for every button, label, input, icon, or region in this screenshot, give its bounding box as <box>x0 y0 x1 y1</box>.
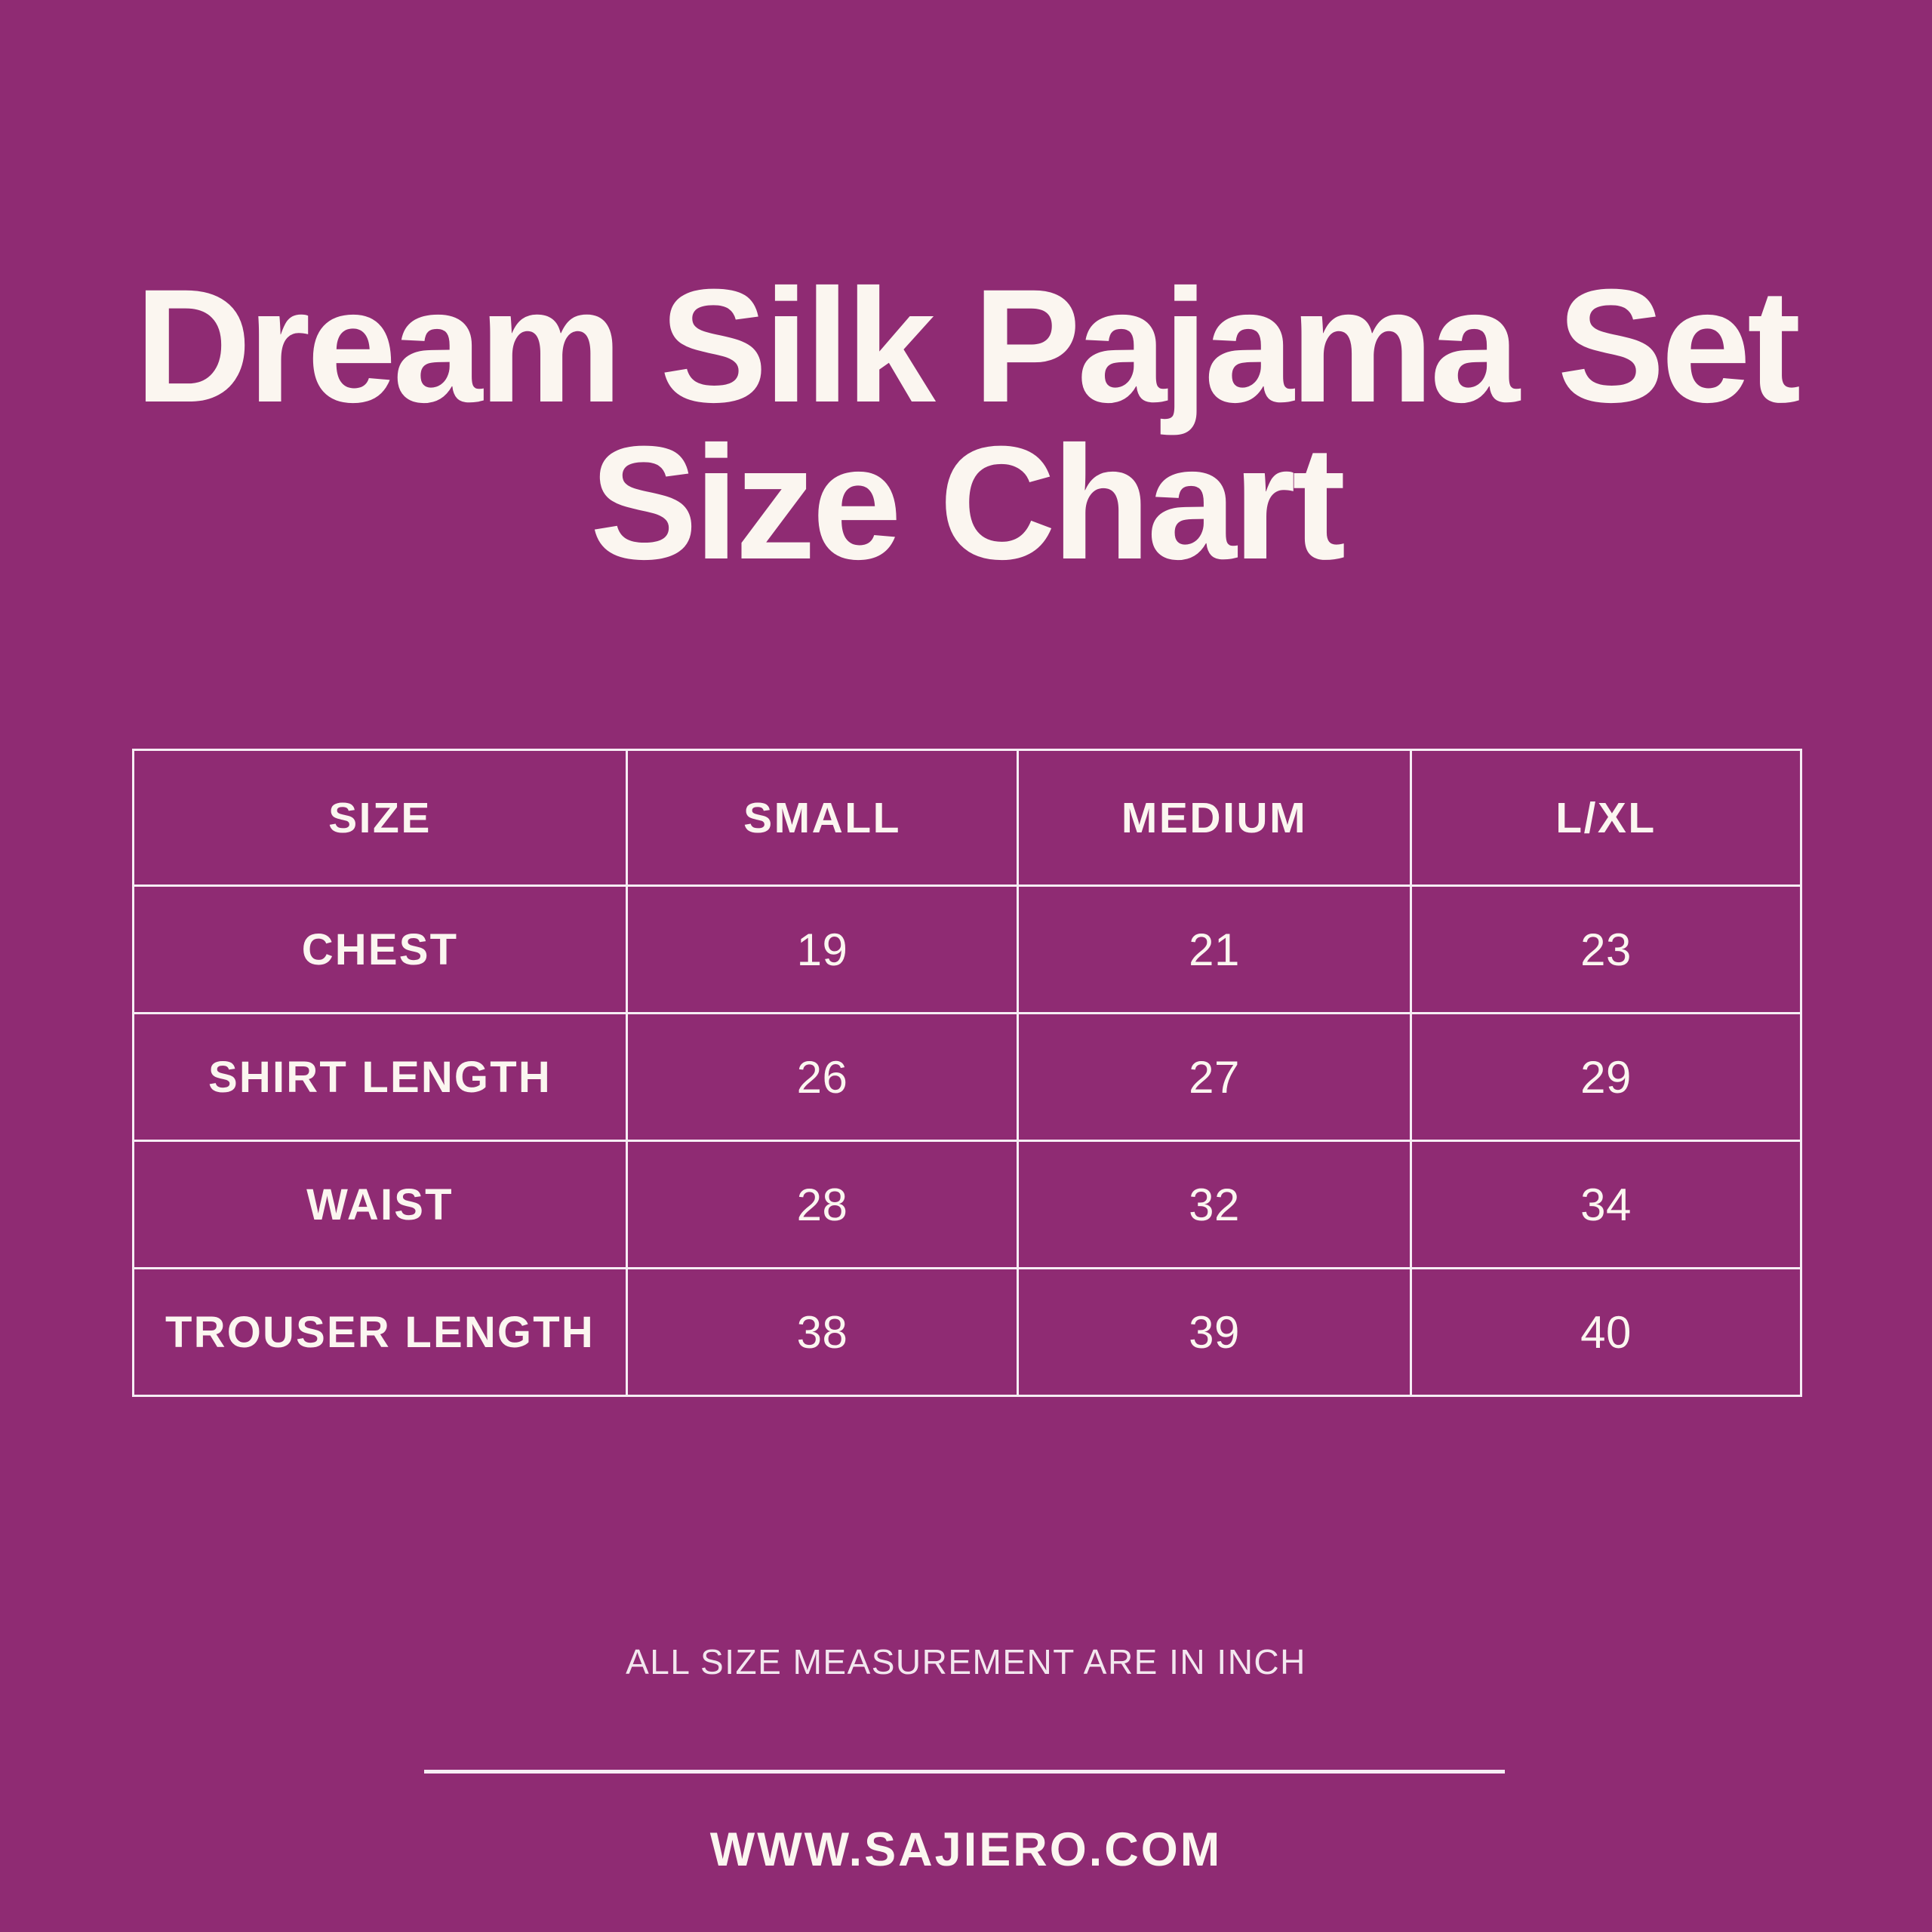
size-chart-table: SIZE SMALL MEDIUM L/XL CHEST 19 21 23 SH… <box>132 749 1802 1397</box>
cell-chest-lxl: 23 <box>1411 886 1801 1014</box>
column-header-lxl: L/XL <box>1411 750 1801 886</box>
cell-waist-lxl: 34 <box>1411 1141 1801 1269</box>
cell-chest-medium: 21 <box>1018 886 1411 1014</box>
size-chart-poster: Dream Silk Pajama Set Size Chart SIZE SM… <box>0 0 1932 1932</box>
size-table-container: SIZE SMALL MEDIUM L/XL CHEST 19 21 23 SH… <box>132 749 1800 1394</box>
column-header-small: SMALL <box>627 750 1018 886</box>
cell-waist-small: 28 <box>627 1141 1018 1269</box>
cell-trouser-length-small: 38 <box>627 1269 1018 1396</box>
measurement-note: ALL SIZE MEASUREMENT ARE IN INCH <box>0 1641 1932 1682</box>
footer-divider <box>424 1770 1505 1774</box>
title-line-1: Dream Silk Pajama Set <box>91 268 1841 425</box>
table-row: WAIST 28 32 34 <box>134 1141 1801 1269</box>
row-label-shirt-length: SHIRT LENGTH <box>134 1014 627 1141</box>
cell-trouser-length-lxl: 40 <box>1411 1269 1801 1396</box>
cell-shirt-length-medium: 27 <box>1018 1014 1411 1141</box>
row-label-waist: WAIST <box>134 1141 627 1269</box>
title-line-2: Size Chart <box>91 425 1841 582</box>
page-title: Dream Silk Pajama Set Size Chart <box>0 268 1932 581</box>
cell-chest-small: 19 <box>627 886 1018 1014</box>
cell-shirt-length-lxl: 29 <box>1411 1014 1801 1141</box>
cell-waist-medium: 32 <box>1018 1141 1411 1269</box>
row-label-trouser-length: TROUSER LENGTH <box>134 1269 627 1396</box>
table-row: CHEST 19 21 23 <box>134 886 1801 1014</box>
table-row: SHIRT LENGTH 26 27 29 <box>134 1014 1801 1141</box>
column-header-medium: MEDIUM <box>1018 750 1411 886</box>
website-url: WWW.SAJIERO.COM <box>0 1823 1932 1877</box>
table-row: TROUSER LENGTH 38 39 40 <box>134 1269 1801 1396</box>
cell-shirt-length-small: 26 <box>627 1014 1018 1141</box>
table-header-row: SIZE SMALL MEDIUM L/XL <box>134 750 1801 886</box>
row-label-chest: CHEST <box>134 886 627 1014</box>
column-header-size: SIZE <box>134 750 627 886</box>
cell-trouser-length-medium: 39 <box>1018 1269 1411 1396</box>
